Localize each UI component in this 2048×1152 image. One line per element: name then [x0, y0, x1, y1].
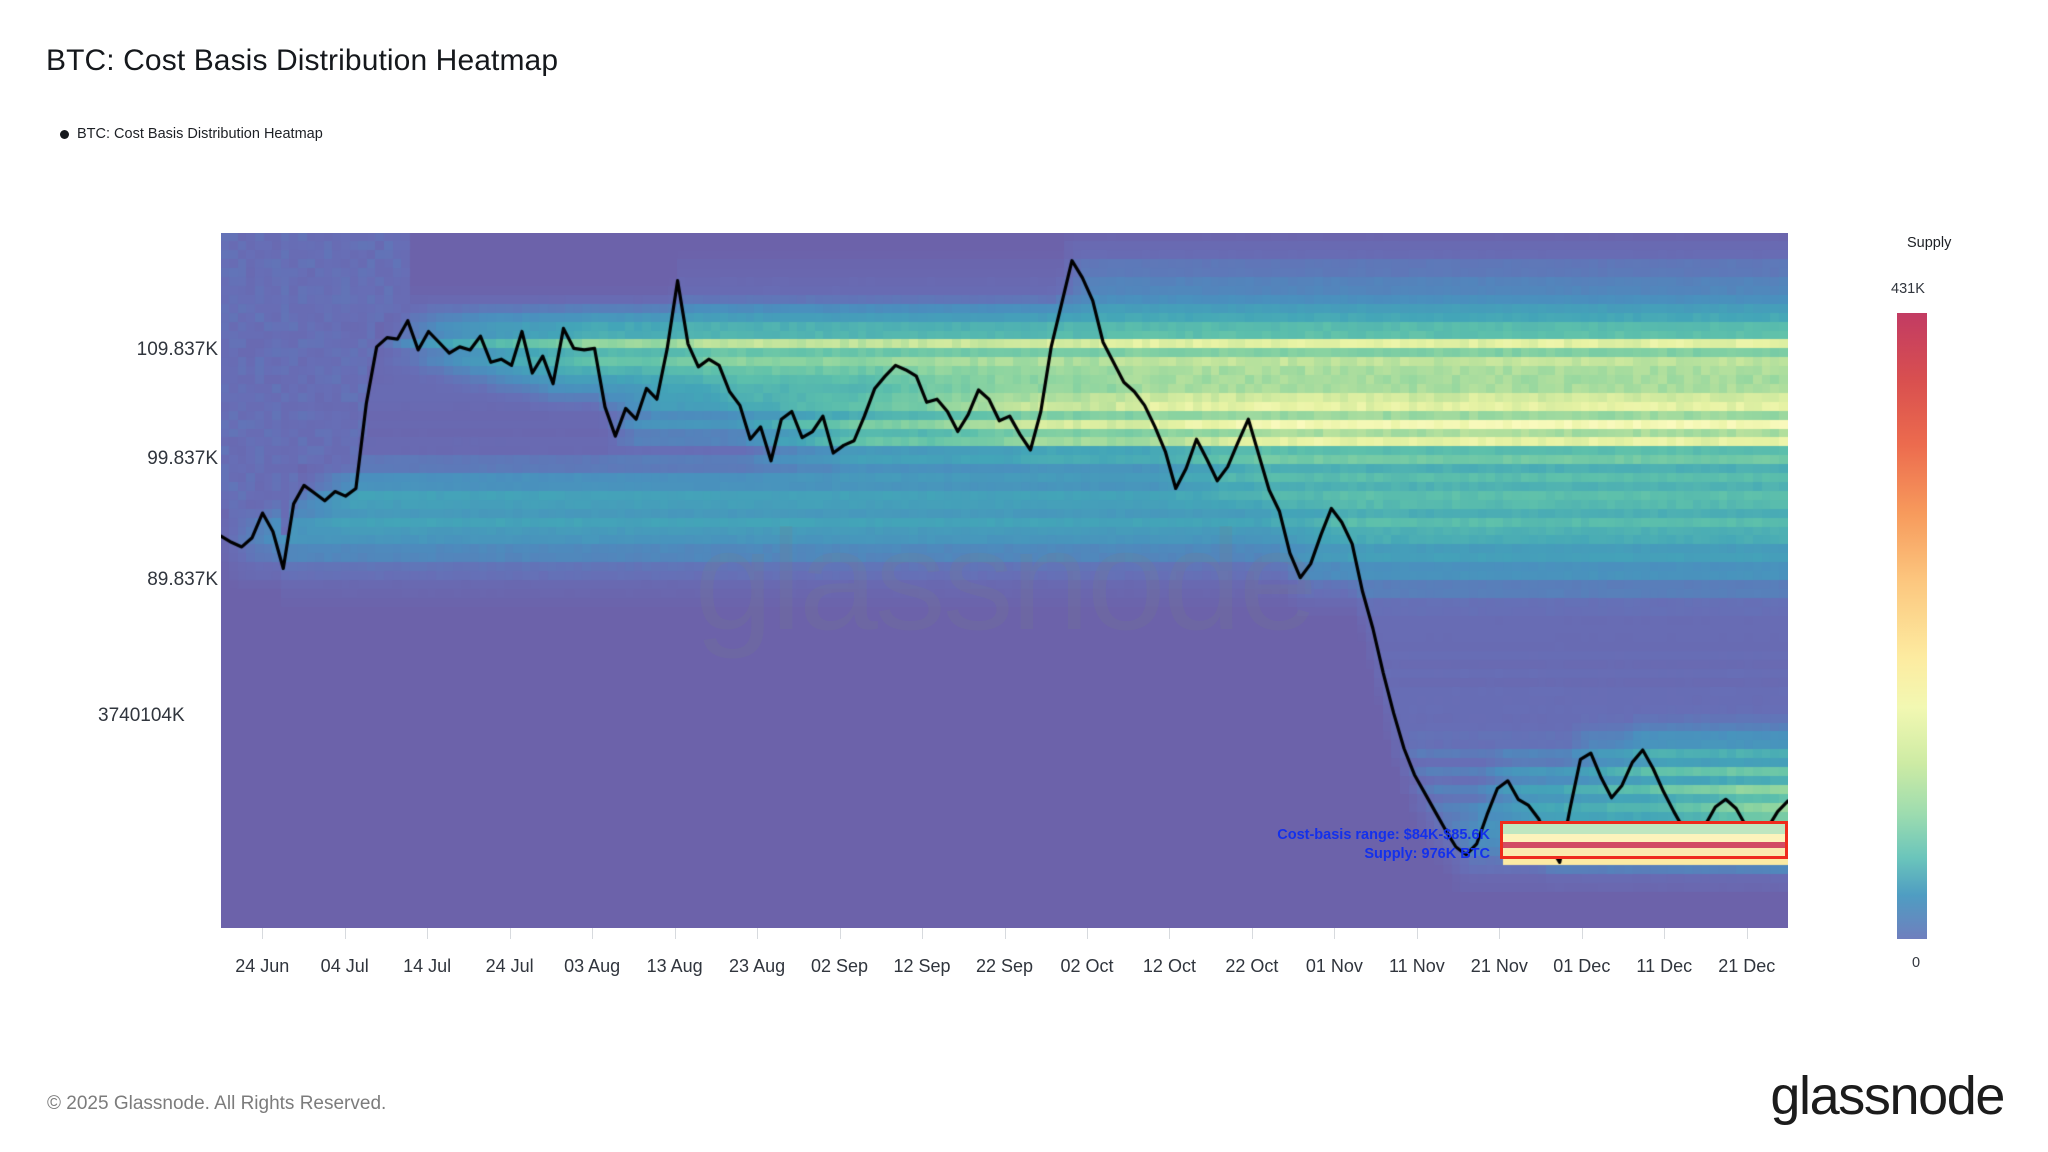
highlight-bands	[1503, 824, 1785, 856]
x-axis-tick-mark	[1334, 928, 1335, 939]
colorbar-gradient[interactable]	[1897, 313, 1927, 939]
x-axis-tick-label: 22 Oct	[1225, 956, 1278, 977]
x-axis-tick-mark	[1499, 928, 1500, 939]
colorbar-max-label: 431K	[1891, 281, 1925, 297]
x-axis-tick-label: 11 Dec	[1636, 956, 1692, 977]
x-axis-tick-mark	[427, 928, 428, 939]
x-axis-tick-mark	[592, 928, 593, 939]
x-axis-tick-mark	[840, 928, 841, 939]
x-axis-tick-mark	[1747, 928, 1748, 939]
x-axis-tick-mark	[1582, 928, 1583, 939]
x-axis-tick-label: 02 Oct	[1060, 956, 1113, 977]
x-axis-tick-label: 01 Dec	[1553, 956, 1610, 977]
colorbar-title: Supply	[1907, 235, 1951, 251]
chart-page: BTC: Cost Basis Distribution Heatmap BTC…	[0, 0, 2048, 1152]
x-axis-tick-mark	[510, 928, 511, 939]
x-axis-tick-label: 01 Nov	[1306, 956, 1363, 977]
annotation-line-supply: Supply: 976K BTC	[1035, 845, 1490, 864]
x-axis-tick-mark	[262, 928, 263, 939]
x-axis-tick-label: 13 Aug	[647, 956, 703, 977]
highlight-band	[1503, 834, 1785, 842]
y-axis-tick-label: 99.837K	[20, 448, 218, 470]
x-axis-tick-label: 24 Jun	[235, 956, 289, 977]
x-axis-tick-label: 14 Jul	[403, 956, 451, 977]
x-axis-tick-mark	[1252, 928, 1253, 939]
x-axis-tick-mark	[1169, 928, 1170, 939]
glassnode-logo: glassnode	[1770, 1065, 2004, 1127]
x-axis-tick-mark	[675, 928, 676, 939]
x-axis-tick-label: 22 Sep	[976, 956, 1033, 977]
copyright-text: © 2025 Glassnode. All Rights Reserved.	[47, 1093, 386, 1115]
y-axis-tick-label: 109.837K	[20, 339, 218, 361]
legend-item-label: BTC: Cost Basis Distribution Heatmap	[77, 126, 323, 142]
x-axis-tick-label: 03 Aug	[564, 956, 620, 977]
x-axis-tick-label: 11 Nov	[1389, 956, 1445, 977]
x-axis-tick-label: 12 Sep	[893, 956, 950, 977]
x-axis-tick-label: 24 Jul	[486, 956, 534, 977]
y-axis-tick-label: 89.837K	[20, 569, 218, 591]
cost-basis-annotation: Cost-basis range: $84K-$85.6K Supply: 97…	[1035, 826, 1490, 864]
x-axis-tick-mark	[922, 928, 923, 939]
y-axis-tick-label: 3740104K	[98, 705, 218, 727]
x-axis-tick-label: 21 Dec	[1718, 956, 1775, 977]
x-axis-tick-label: 23 Aug	[729, 956, 785, 977]
page-title: BTC: Cost Basis Distribution Heatmap	[46, 44, 558, 78]
cost-basis-highlight-box[interactable]	[1500, 821, 1788, 859]
annotation-line-range: Cost-basis range: $84K-$85.6K	[1035, 826, 1490, 845]
x-axis-tick-label: 12 Oct	[1143, 956, 1196, 977]
x-axis-tick-mark	[1087, 928, 1088, 939]
highlight-band	[1503, 824, 1785, 834]
x-axis-tick-label: 21 Nov	[1471, 956, 1528, 977]
x-axis-tick-label: 04 Jul	[321, 956, 369, 977]
x-axis-tick-mark	[1417, 928, 1418, 939]
x-axis-tick-mark	[1005, 928, 1006, 939]
highlight-band	[1503, 848, 1785, 856]
x-axis-tick-mark	[757, 928, 758, 939]
x-axis-tick-mark	[345, 928, 346, 939]
colorbar-min-label: 0	[1912, 955, 1920, 971]
x-axis-tick-label: 02 Sep	[811, 956, 868, 977]
legend-marker-icon	[60, 130, 69, 139]
chart-legend[interactable]: BTC: Cost Basis Distribution Heatmap	[60, 126, 323, 142]
x-axis-tick-mark	[1664, 928, 1665, 939]
